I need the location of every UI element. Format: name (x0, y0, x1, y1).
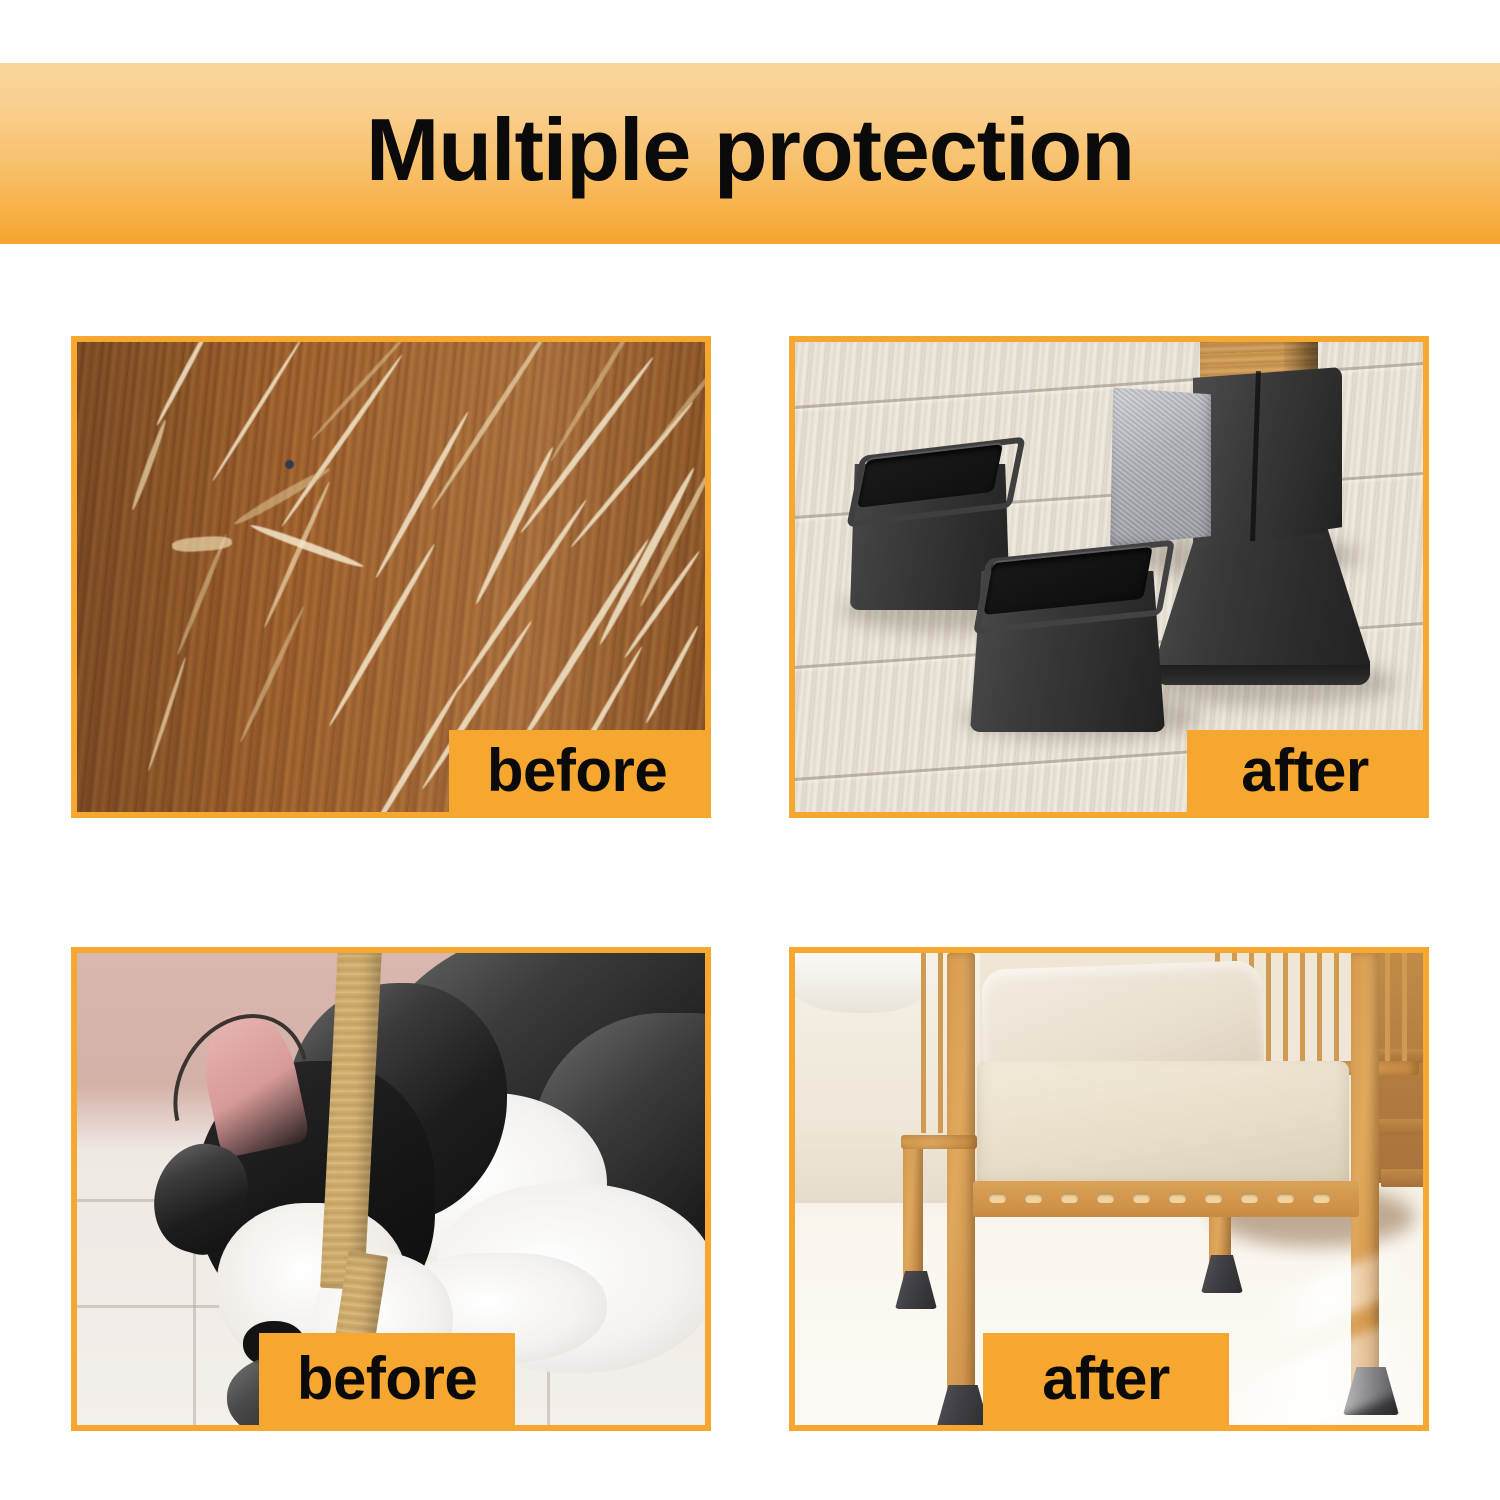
panel-label-before: before (259, 1333, 515, 1425)
photo-scratched-hardwood-floor: before (77, 342, 705, 812)
felt-pad (1107, 381, 1211, 546)
photo-husky-chewing-chair-leg: before (77, 953, 705, 1425)
cap-base-rim (1155, 665, 1370, 685)
panel-label-after: after (1187, 730, 1423, 812)
background-fixture (795, 953, 927, 1013)
panel-before-dog-chewing: before (71, 947, 711, 1431)
leg-cap-open-front (970, 547, 1165, 732)
background-shelf-board-2 (1373, 1119, 1423, 1135)
panel-after-bench-with-caps: after (789, 947, 1429, 1431)
bench-rear-left-leg (903, 1139, 923, 1289)
panel-label-after: after (983, 1333, 1229, 1425)
panel-after-leg-caps: after (789, 336, 1429, 818)
photo-leg-caps-product: after (795, 342, 1423, 812)
background-shelf-board-3 (1381, 1169, 1423, 1187)
cap-side-face (1193, 367, 1342, 549)
bench-seat-cushion (977, 1061, 1349, 1193)
bench-rear-rail (901, 1135, 977, 1149)
panel-label-before: before (449, 730, 705, 812)
leg-cap-with-felt-pad (1107, 367, 1342, 567)
comparison-grid: before (0, 0, 1500, 1500)
panel-before-scratched-floor: before (71, 336, 711, 818)
bench-front-left-leg (947, 953, 975, 1409)
photo-bench-with-leg-caps: after (795, 953, 1423, 1425)
